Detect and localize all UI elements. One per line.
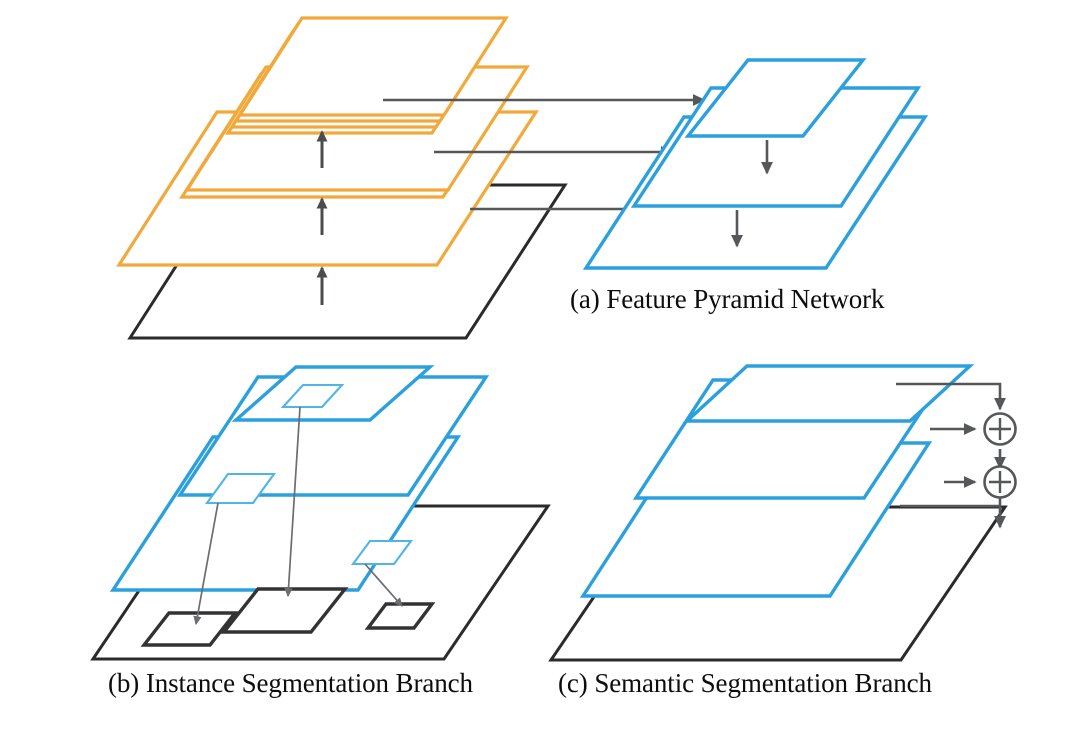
- panel-c-caption: (c) Semantic Segmentation Branch: [558, 668, 933, 698]
- panoptic-fpn-diagram: Liberty Bell: [0, 0, 1082, 731]
- panel-c-semantic-segmentation-branch: (c) Semantic Segmentation Branch: [551, 366, 1016, 698]
- figure-root: Liberty Bell: [0, 0, 1082, 731]
- sum-operator-2: [985, 467, 1016, 498]
- panel-b-caption: (b) Instance Segmentation Branch: [108, 668, 474, 698]
- sum-operator-1: [985, 414, 1016, 445]
- panel-b-instance-segmentation-branch: (b) Instance Segmentation Branch: [93, 367, 548, 698]
- semantic-feature-plane-3: [687, 366, 970, 421]
- panel-a-feature-pyramid-network: Liberty Bell: [119, 18, 925, 350]
- panel-a-caption: (a) Feature Pyramid Network: [570, 284, 885, 314]
